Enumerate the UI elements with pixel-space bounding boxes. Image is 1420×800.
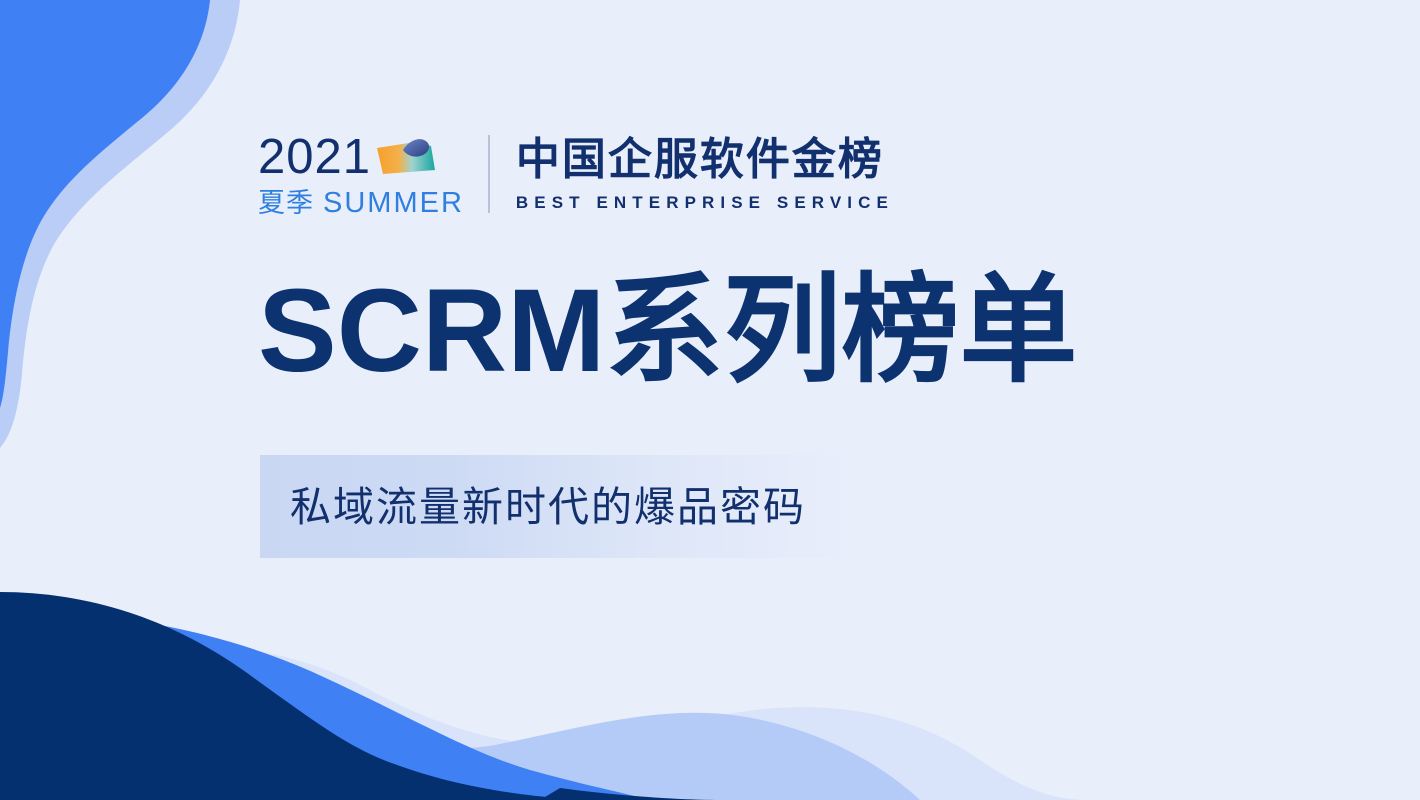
award-title-block: 中国企服软件金榜 BEST ENTERPRISE SERVICE xyxy=(516,126,894,222)
poster-canvas: 2021 夏季 SUMMER 中国企服软件金榜 BEST ENTERPRISE … xyxy=(0,0,1420,800)
award-season-row: 夏季 SUMMER xyxy=(258,188,464,218)
page-title: SCRM系列榜单 xyxy=(258,266,1077,396)
award-year-block: 2021 夏季 SUMMER xyxy=(258,126,464,222)
award-title-en: BEST ENTERPRISE SERVICE xyxy=(516,193,894,213)
award-logo-lockup: 2021 夏季 SUMMER 中国企服软件金榜 BEST ENTERPRISE … xyxy=(258,126,894,222)
background-decoration xyxy=(0,0,1420,800)
top-left-blue-blob xyxy=(0,0,210,408)
award-year: 2021 xyxy=(258,133,371,182)
award-year-row: 2021 xyxy=(258,130,464,182)
award-season-cn: 夏季 xyxy=(258,188,314,218)
subtitle-text: 私域流量新时代的爆品密码 xyxy=(290,482,806,532)
award-title-cn: 中国企服软件金榜 xyxy=(516,136,894,184)
gold-list-emblem-icon xyxy=(375,134,441,180)
award-season-en: SUMMER xyxy=(323,188,464,218)
subtitle-band: 私域流量新时代的爆品密码 xyxy=(260,455,882,558)
lockup-divider xyxy=(488,135,490,213)
